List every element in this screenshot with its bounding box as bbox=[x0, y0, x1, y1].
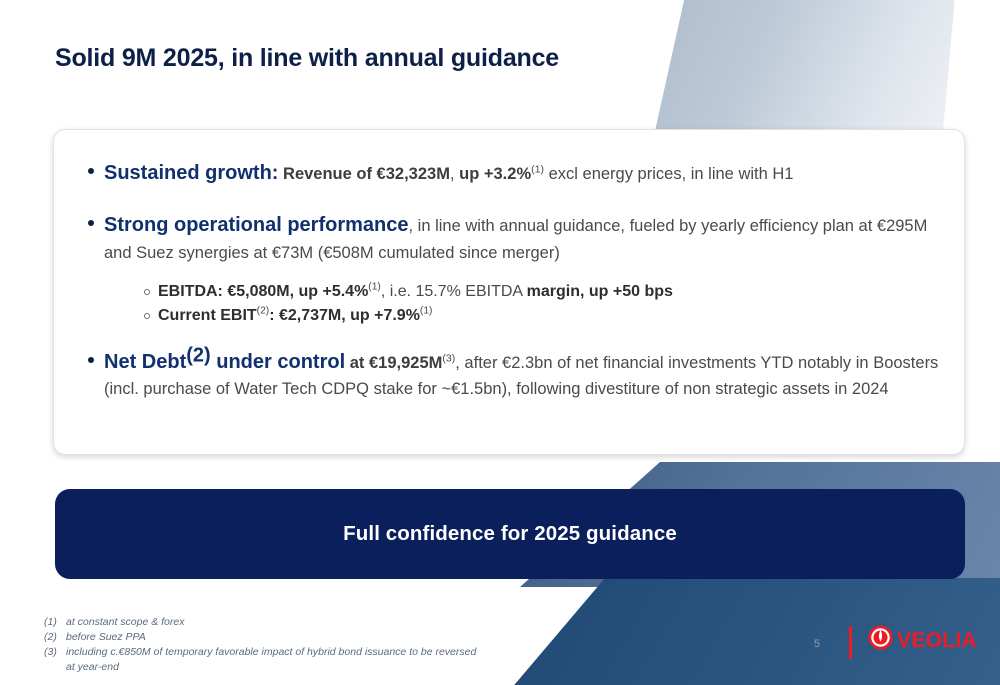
sub-bullet-current-ebit: Current EBIT(2): €2,737M, up +7.9%(1) bbox=[132, 304, 942, 328]
page-number: 5 bbox=[814, 638, 820, 650]
bullet-2-lead: Strong operational performance bbox=[104, 214, 409, 236]
ebitda-margin-text: , i.e. 15.7% EBITDA bbox=[381, 283, 527, 300]
net-debt-lead-2: under control bbox=[211, 351, 345, 373]
footnote-1-text: at constant scope & forex bbox=[66, 615, 184, 630]
sub-bullet-ebitda: EBITDA: €5,080M, up +5.4%(1), i.e. 15.7%… bbox=[132, 280, 942, 304]
ebit-label: Current EBIT bbox=[158, 307, 257, 324]
veolia-wordmark: VEOLIA bbox=[897, 630, 977, 651]
banner-text: Full confidence for 2025 guidance bbox=[343, 522, 677, 546]
ebit-value: : €2,737M, up +7.9% bbox=[269, 307, 420, 324]
bullet-dot-icon bbox=[88, 220, 94, 226]
ebitda-footnote-ref: (1) bbox=[368, 282, 381, 293]
bullet-dot-icon bbox=[88, 357, 94, 363]
footnote-2: (2) before Suez PPA bbox=[44, 630, 476, 645]
confidence-banner: Full confidence for 2025 guidance bbox=[55, 489, 965, 579]
slide-canvas: Solid 9M 2025, in line with annual guida… bbox=[0, 0, 1000, 685]
bullet-ring-icon bbox=[144, 289, 150, 295]
bullet-net-debt: Net Debt(2) under control at €19,925M(3)… bbox=[78, 347, 942, 402]
bullet-dot-icon bbox=[88, 168, 94, 174]
decorative-band-top bbox=[655, 0, 955, 131]
footnote-3: (3) including c.€850M of temporary favor… bbox=[44, 645, 476, 660]
slide-title: Solid 9M 2025, in line with annual guida… bbox=[55, 44, 559, 73]
content-card: Sustained growth: Revenue of €32,323M, u… bbox=[53, 129, 965, 455]
bullet-ring-icon bbox=[144, 313, 150, 319]
bullet-1-footnote-ref: (1) bbox=[531, 164, 544, 176]
footnote-2-number: (2) bbox=[44, 630, 66, 645]
bullet-1-growth: up +3.2% bbox=[459, 165, 531, 183]
bullet-1-sep: , bbox=[450, 165, 459, 183]
net-debt-lead-footnote-ref: (2) bbox=[186, 344, 210, 366]
net-debt-lead: Net Debt bbox=[104, 351, 186, 373]
bullet-1-lead: Sustained growth: bbox=[104, 162, 278, 184]
ebitda-value: EBITDA: €5,080M, up +5.4% bbox=[158, 283, 368, 300]
footnote-3-text: including c.€850M of temporary favorable… bbox=[66, 645, 476, 660]
ebitda-margin-bold: margin, up +50 bps bbox=[527, 283, 673, 300]
net-debt-footnote-ref: (3) bbox=[442, 352, 455, 364]
footnote-3-continuation: at year-end bbox=[44, 660, 476, 675]
sub-bullet-list: EBITDA: €5,080M, up +5.4%(1), i.e. 15.7%… bbox=[78, 280, 942, 328]
ebit-footnote-ref-2: (1) bbox=[420, 306, 433, 317]
footnote-2-text: before Suez PPA bbox=[66, 630, 146, 645]
veolia-logo: VEOLIA bbox=[868, 625, 977, 655]
footnotes: (1) at constant scope & forex (2) before… bbox=[44, 615, 476, 675]
footnote-1: (1) at constant scope & forex bbox=[44, 615, 476, 630]
footer-divider bbox=[849, 626, 852, 659]
net-debt-amount: at €19,925M bbox=[345, 354, 442, 372]
footnote-1-number: (1) bbox=[44, 615, 66, 630]
bullet-1-revenue: Revenue of €32,323M bbox=[278, 165, 450, 183]
veolia-droplet-circle-icon bbox=[868, 625, 893, 655]
bullet-1-tail: excl energy prices, in line with H1 bbox=[544, 165, 793, 183]
footnote-3-number: (3) bbox=[44, 645, 66, 660]
bullet-sustained-growth: Sustained growth: Revenue of €32,323M, u… bbox=[78, 158, 942, 188]
bullet-strong-operational-performance: Strong operational performance, in line … bbox=[78, 210, 942, 265]
ebit-footnote-ref: (2) bbox=[257, 306, 270, 317]
